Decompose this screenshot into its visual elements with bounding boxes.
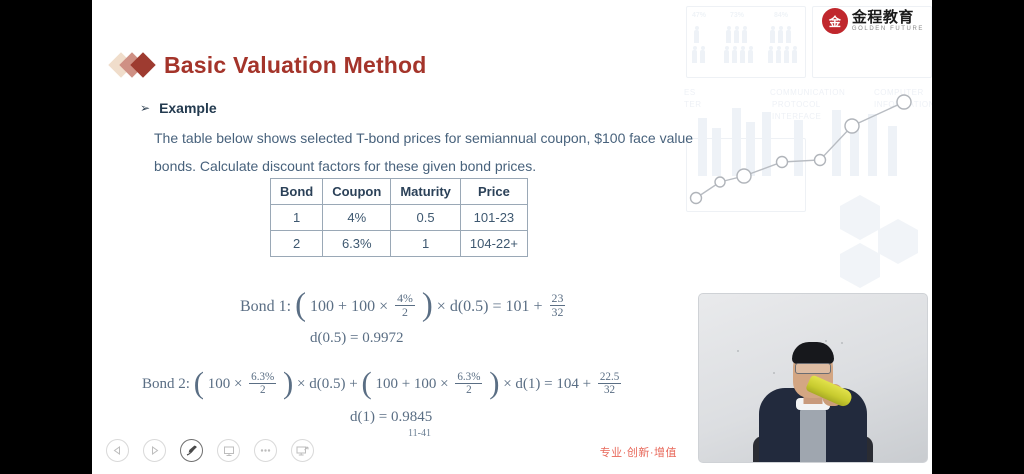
decor-label: INTERFACE — [772, 112, 821, 121]
bond-table-wrapper: Bond Coupon Maturity Price 1 4% 0.5 101-… — [270, 178, 528, 257]
decor-bar — [762, 112, 771, 176]
decor-label: ES — [684, 88, 696, 97]
decor-person-icon — [792, 50, 797, 63]
bond1-fraction-coupon: 4% 2 — [395, 292, 415, 319]
triangle-left-icon — [113, 446, 122, 455]
title-text: Basic Valuation Method — [164, 52, 427, 79]
annotation-pen-button[interactable] — [180, 439, 203, 462]
decor-hexagon — [840, 254, 880, 277]
fraction-numerator: 4% — [395, 292, 415, 305]
triangle-right-icon — [150, 446, 159, 455]
screen-share-button[interactable] — [291, 439, 314, 462]
slide-page-number: 11-41 — [408, 428, 431, 439]
logo-emblem-icon: 金 — [822, 8, 848, 34]
table-header-cell: Maturity — [391, 179, 461, 205]
bond2-term2: × d(0.5) + — [297, 376, 358, 393]
fraction-numerator: 6.3% — [455, 371, 482, 383]
paren-open: ( — [295, 287, 306, 324]
screen-share-icon — [296, 445, 309, 457]
presenter-glasses — [795, 363, 831, 374]
example-paragraph: The table below shows selected T-bond pr… — [154, 124, 694, 180]
decor-person-icon — [726, 30, 731, 43]
decor-line-chart — [682, 80, 932, 240]
decor-label: TER — [684, 100, 702, 109]
decor-person-icon — [778, 30, 783, 43]
bond2-fraction-price: 22.5 32 — [598, 371, 621, 396]
bond1-result: d(0.5) = 0.9972 — [310, 330, 403, 347]
decor-percent: 47% — [692, 12, 706, 19]
page-title: Basic Valuation Method — [112, 50, 427, 80]
decor-hexagon — [878, 230, 918, 253]
table-header-cell: Coupon — [323, 179, 391, 205]
table-row: 1 4% 0.5 101-23 — [271, 205, 528, 231]
table-header-cell: Bond — [271, 179, 323, 205]
decor-label: COMPUTER — [874, 88, 924, 97]
bond1-term2: × d(0.5) = 101 + — [437, 298, 543, 316]
fraction-denominator: 2 — [455, 383, 482, 396]
next-slide-button[interactable] — [143, 439, 166, 462]
fraction-denominator: 32 — [598, 383, 621, 396]
table-cell: 1 — [271, 205, 323, 231]
whiteboard-icon — [223, 445, 235, 457]
presenter-webcam-feed[interactable] — [699, 294, 927, 462]
logo-english-text: GOLDEN FUTURE — [852, 26, 924, 32]
ellipsis-icon — [259, 448, 272, 453]
wall-speck — [825, 340, 827, 342]
presenter-hair — [792, 342, 834, 364]
paren-close: ) — [489, 366, 499, 401]
decor-hexagon — [840, 206, 880, 229]
decor-person-icon — [694, 30, 699, 43]
table-header-row: Bond Coupon Maturity Price — [271, 179, 528, 205]
bond2-result: d(1) = 0.9845 — [350, 409, 432, 426]
table-cell: 104-22+ — [460, 231, 527, 257]
decor-bar — [850, 124, 859, 176]
bond2-term1: 100 × — [208, 376, 243, 393]
table-cell: 0.5 — [391, 205, 461, 231]
decor-person-icon — [724, 50, 729, 63]
previous-slide-button[interactable] — [106, 439, 129, 462]
screen-recording-viewport: 47% 73% 84% ES TER COMMUNICATION PROTOCO… — [0, 0, 1024, 474]
bond1-term1: 100 + 100 × — [310, 298, 388, 316]
bond2-term3: 100 + 100 × — [375, 376, 448, 393]
bond1-equation: Bond 1: ( 100 + 100 × 4% 2 ) × d(0.5) = … — [240, 288, 568, 325]
decor-label: COMMUNICATION — [770, 88, 845, 97]
paren-open: ( — [361, 366, 371, 401]
decor-percent: 73% — [730, 12, 744, 19]
decor-bar — [868, 114, 877, 176]
fraction-numerator: 6.3% — [249, 371, 276, 383]
decor-bar — [746, 122, 755, 176]
presenter-shirt — [800, 406, 826, 462]
slide-canvas: 47% 73% 84% ES TER COMMUNICATION PROTOCO… — [92, 0, 932, 474]
decor-person-icon — [740, 50, 745, 63]
decor-person-icon — [734, 30, 739, 43]
decor-person-icon — [784, 50, 789, 63]
decor-person-icon — [768, 50, 773, 63]
paren-close: ) — [422, 287, 433, 324]
wall-speck — [737, 350, 739, 352]
decor-panel — [686, 6, 806, 78]
table-cell: 1 — [391, 231, 461, 257]
bond2-equation: Bond 2: ( 100 × 6.3% 2 ) × d(0.5) + ( 10… — [142, 367, 624, 402]
table-cell: 6.3% — [323, 231, 391, 257]
decor-bar — [888, 126, 897, 176]
brand-slogan: 专业·创新·增值 — [600, 444, 677, 460]
whiteboard-button[interactable] — [217, 439, 240, 462]
decor-person-icon — [776, 50, 781, 63]
decor-panel — [686, 138, 806, 212]
example-label: Example — [159, 100, 217, 116]
bond2-fraction-coupon-1: 6.3% 2 — [249, 371, 276, 396]
bond-table: Bond Coupon Maturity Price 1 4% 0.5 101-… — [270, 178, 528, 257]
decor-bar — [732, 108, 741, 176]
table-cell: 2 — [271, 231, 323, 257]
more-options-button[interactable] — [254, 439, 277, 462]
pen-icon — [185, 444, 198, 457]
decor-label: PROTOCOL — [772, 100, 821, 109]
decor-bar — [794, 120, 803, 176]
decor-bar — [832, 110, 841, 176]
wall-speck — [841, 342, 843, 344]
decor-bar — [698, 118, 707, 176]
bond1-fraction-price: 23 32 — [550, 292, 566, 319]
fraction-denominator: 2 — [249, 383, 276, 396]
fraction-denominator: 2 — [395, 305, 415, 319]
bond2-term4: × d(1) = 104 + — [503, 376, 591, 393]
fraction-numerator: 22.5 — [598, 371, 621, 383]
brand-logo: 金 金程教育 GOLDEN FUTURE — [822, 8, 924, 34]
bond2-label: Bond 2: — [142, 376, 190, 393]
title-diamond-decoration — [112, 50, 164, 80]
decor-person-icon — [742, 30, 747, 43]
table-cell: 101-23 — [460, 205, 527, 231]
paren-close: ) — [283, 366, 293, 401]
bond1-label: Bond 1: — [240, 298, 291, 316]
decor-person-icon — [692, 50, 697, 63]
decor-label: INFORMATION — [874, 100, 932, 109]
decor-percent: 84% — [774, 12, 788, 19]
bullet-arrow-icon: ➢ — [140, 102, 150, 114]
background-infographic: 47% 73% 84% ES TER COMMUNICATION PROTOCO… — [682, 0, 932, 290]
wall-speck — [773, 372, 775, 374]
decor-person-icon — [700, 50, 705, 63]
decor-person-icon — [732, 50, 737, 63]
decor-person-icon — [770, 30, 775, 43]
table-cell: 4% — [323, 205, 391, 231]
table-header-cell: Price — [460, 179, 527, 205]
fraction-denominator: 32 — [550, 305, 566, 319]
fraction-numerator: 23 — [550, 292, 566, 305]
logo-chinese-text: 金程教育 — [852, 10, 924, 25]
decor-bar — [712, 128, 721, 176]
decor-person-icon — [748, 50, 753, 63]
paren-open: ( — [194, 366, 204, 401]
slide-controls-toolbar — [106, 439, 314, 462]
example-heading: ➢ Example — [140, 100, 217, 116]
table-row: 2 6.3% 1 104-22+ — [271, 231, 528, 257]
bond2-fraction-coupon-2: 6.3% 2 — [455, 371, 482, 396]
decor-person-icon — [786, 30, 791, 43]
